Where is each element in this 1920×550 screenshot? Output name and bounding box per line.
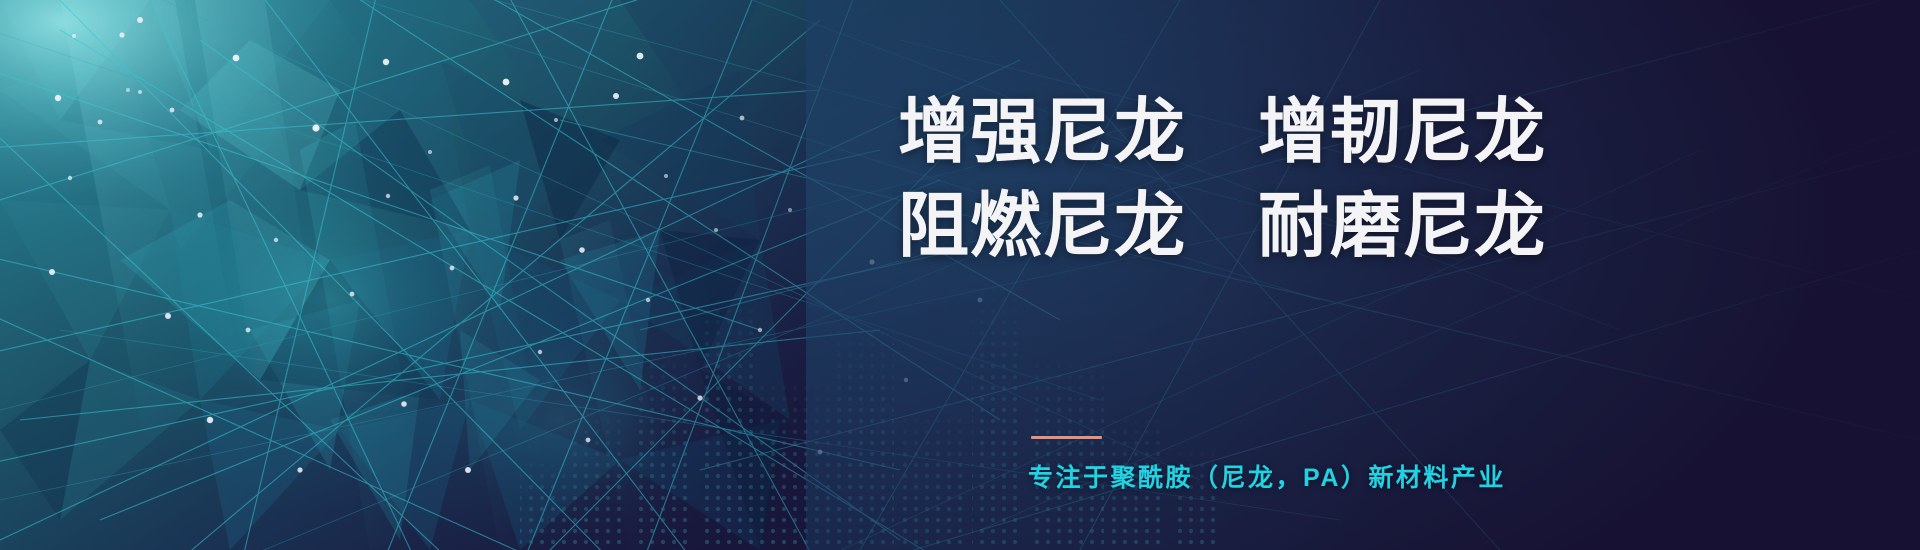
accent-divider bbox=[1031, 436, 1102, 439]
headline-block: 增强尼龙 增韧尼龙 阻燃尼龙 耐磨尼龙 bbox=[898, 86, 1798, 275]
hero-banner: 增强尼龙 增韧尼龙 阻燃尼龙 耐磨尼龙 专注于聚酰胺（尼龙，PA）新材料产业 bbox=[0, 0, 1920, 550]
headline-line-2: 阻燃尼龙 耐磨尼龙 bbox=[898, 180, 1798, 274]
headline-line-1: 增强尼龙 增韧尼龙 bbox=[898, 86, 1798, 180]
banner-content: 增强尼龙 增韧尼龙 阻燃尼龙 耐磨尼龙 专注于聚酰胺（尼龙，PA）新材料产业 bbox=[0, 0, 1920, 550]
tagline-text: 专注于聚酰胺（尼龙，PA）新材料产业 bbox=[1028, 458, 1506, 494]
